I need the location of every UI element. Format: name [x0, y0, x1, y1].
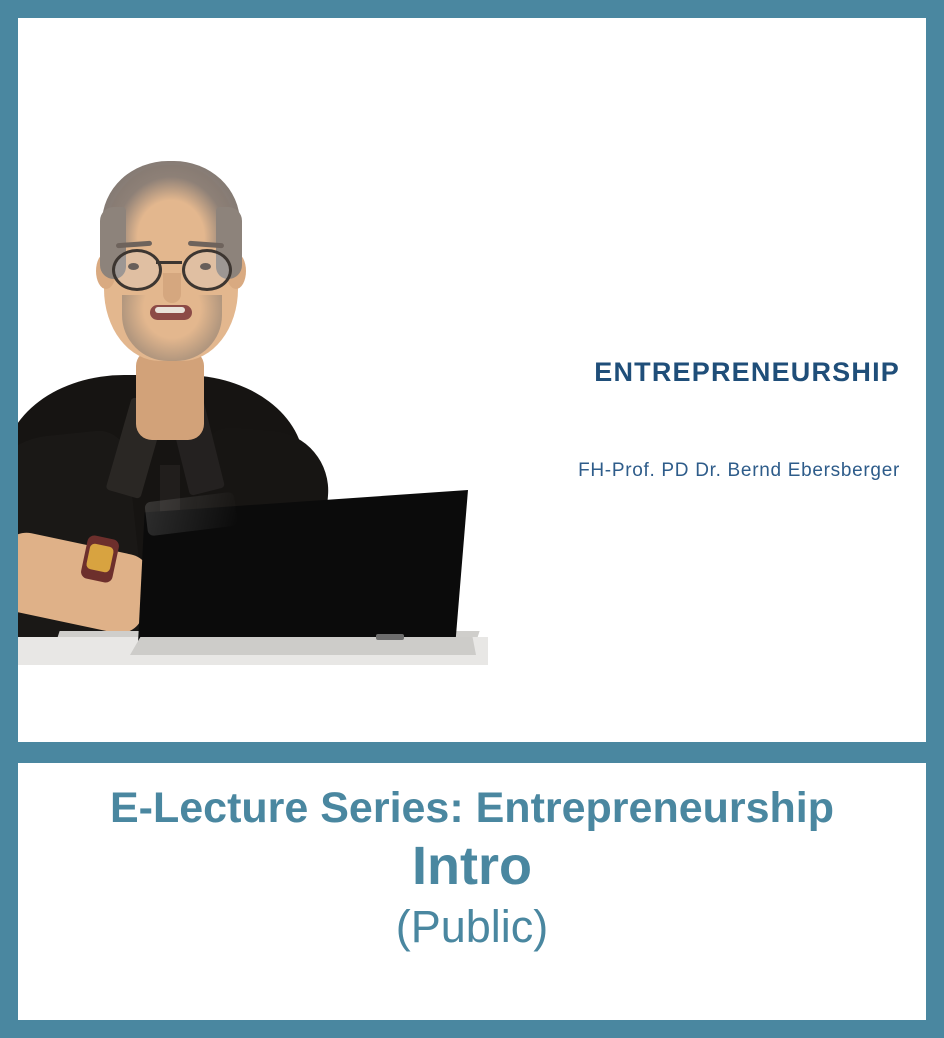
laptop-base [130, 637, 476, 655]
video-thumbnail-card[interactable]: ENTREPRENEURSHIP FH-Prof. PD Dr. Bernd E… [18, 18, 926, 742]
eyeglasses-lens-left [112, 249, 162, 291]
video-still[interactable]: ENTREPRENEURSHIP FH-Prof. PD Dr. Bernd E… [18, 145, 900, 665]
slide-presenter-name: FH-Prof. PD Dr. Bernd Ebersberger [520, 460, 900, 482]
outer-frame: ENTREPRENEURSHIP FH-Prof. PD Dr. Bernd E… [0, 0, 944, 1038]
slide-title: ENTREPRENEURSHIP [520, 357, 900, 388]
lecture-series-title: E-Lecture Series: Entrepreneurship [18, 783, 926, 834]
eyeglasses-lens-right [182, 249, 232, 291]
laptop-hinge [376, 634, 404, 640]
presenter-nose [163, 273, 181, 303]
eyeglasses-bridge [156, 261, 182, 264]
panel-divider [0, 742, 944, 763]
caption-card: E-Lecture Series: Entrepreneurship Intro… [18, 763, 926, 1020]
lecture-topic-title: Intro [18, 836, 926, 896]
slide-text-block: ENTREPRENEURSHIP FH-Prof. PD Dr. Bernd E… [520, 357, 900, 482]
presenter-neck [136, 350, 204, 440]
lecture-access-label: (Public) [18, 902, 926, 952]
presenter-teeth [155, 307, 185, 313]
